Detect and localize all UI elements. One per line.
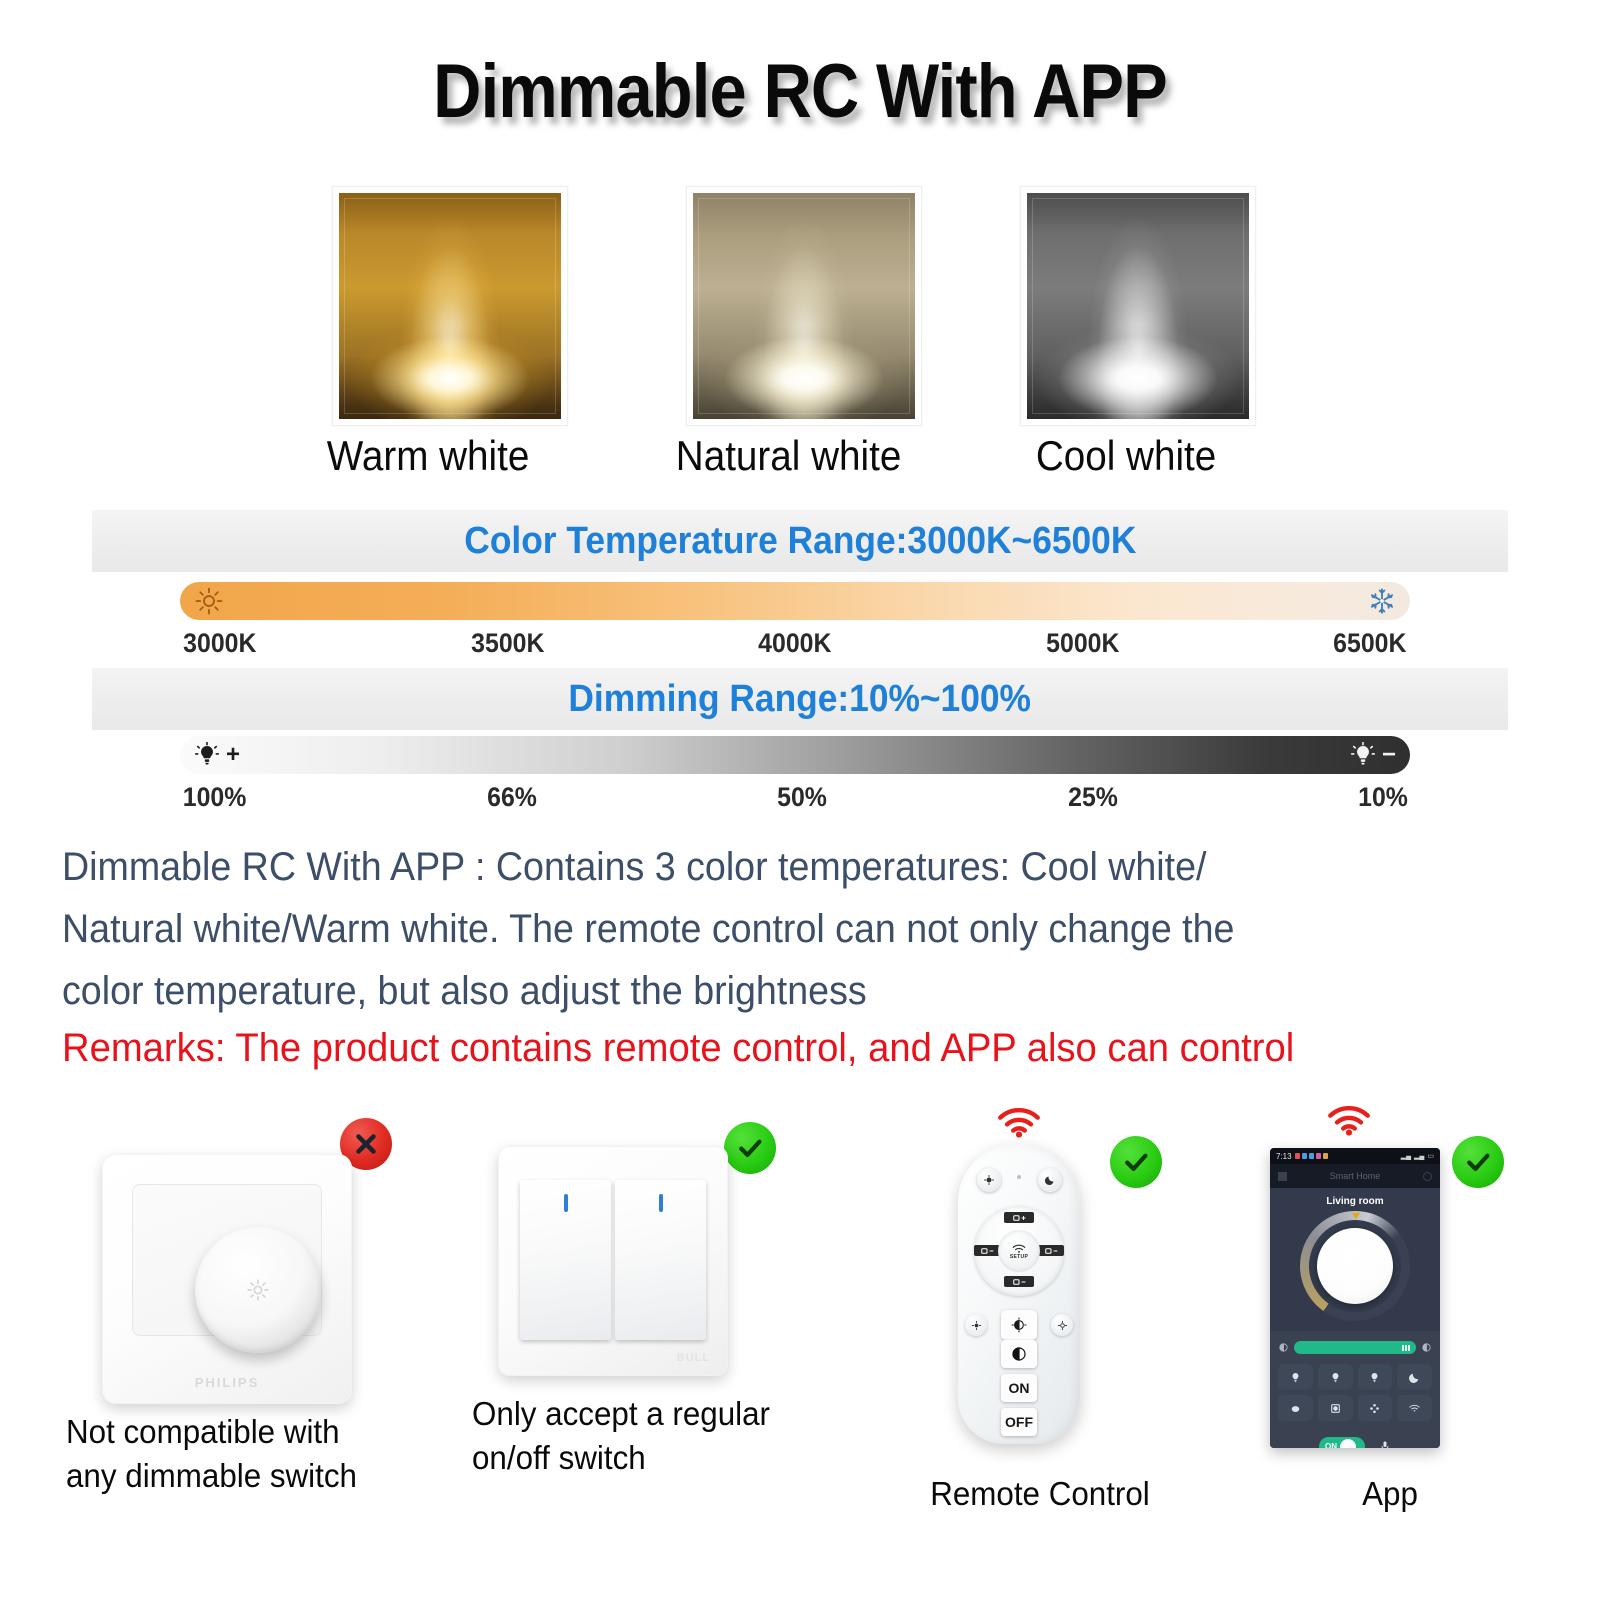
wifi-signal-icon (992, 1104, 1046, 1143)
brightness-slider[interactable] (1294, 1341, 1416, 1354)
panel-caption-dimmer: Not compatible with any dimmable switch (66, 1410, 408, 1498)
bulb-plus-icon: + (194, 742, 240, 768)
remote-left-chip[interactable] (974, 1245, 1000, 1256)
app-controls (1270, 1331, 1440, 1429)
half-circle-icon (1010, 1345, 1028, 1363)
swatch-cool-white (1020, 186, 1256, 426)
rf-remote-control[interactable]: SETUP (958, 1144, 1080, 1444)
remarks-text: Remarks: The product contains remote con… (62, 1026, 1485, 1071)
status-time: 7:13 (1276, 1152, 1292, 1161)
brightness-low-icon (1278, 1342, 1289, 1353)
swatch-natural-white (686, 186, 922, 426)
ct-tick-1: 3500K (471, 628, 544, 659)
cool-light-beam-icon (1027, 193, 1249, 419)
wifi-signal-icon (1322, 1102, 1376, 1141)
color-temperature-gradient-bar[interactable] (180, 582, 1410, 620)
snowflake-icon (1368, 587, 1396, 615)
brightness-icon (245, 1277, 271, 1303)
swatch-inner-frame (698, 198, 910, 414)
app-room-name: Living room (1270, 1196, 1440, 1207)
app-top-bar: Smart Home (1270, 1164, 1440, 1188)
brightness-dial[interactable] (1300, 1211, 1410, 1321)
panel-caption-app: App (1238, 1472, 1542, 1516)
remote-top-buttons (958, 1168, 1080, 1192)
description-paragraph: Dimmable RC With APP : Contains 3 color … (62, 836, 1532, 1022)
swatch-warm-white (332, 186, 568, 426)
dim-tick-3: 25% (1068, 782, 1118, 813)
microphone-icon[interactable] (1379, 1439, 1391, 1448)
swatch-inner-frame (344, 198, 556, 414)
scene-bulb-1-button[interactable] (1278, 1364, 1313, 1390)
color-temperature-banner-text: Color Temperature Range:3000K~6500K (464, 520, 1136, 563)
ct-tick-2: 4000K (758, 628, 831, 659)
panel-caption-remote: Remote Control (888, 1472, 1192, 1516)
remote-warm-button[interactable] (965, 1314, 987, 1336)
warm-light-beam-icon (339, 193, 561, 419)
remote-brightness-button[interactable] (977, 1168, 1001, 1192)
page-title: Dimmable RC With APP (96, 48, 1504, 135)
description-line-3: color temperature, but also adjust the b… (62, 960, 1444, 1022)
ct-tick-4: 6500K (1334, 628, 1407, 659)
dim-tick-4: 10% (1358, 782, 1408, 813)
smartphone-app[interactable]: 7:13 ▂▄▂▄▭ Smart Home (1270, 1148, 1440, 1448)
dial-marker-icon (1352, 1213, 1360, 1219)
power-toggle-label: ON (1325, 1442, 1337, 1448)
remote-dpad[interactable]: SETUP (974, 1206, 1064, 1296)
status-signal-icons: ▂▄▂▄▭ (1401, 1152, 1434, 1160)
dimmer-knob[interactable] (195, 1227, 321, 1353)
dimming-gradient-bar[interactable]: + − (180, 736, 1410, 774)
check-badge (1110, 1136, 1162, 1188)
app-bottom-bar: ON (1270, 1429, 1440, 1448)
remote-ct-toggle-button[interactable] (1001, 1310, 1037, 1340)
app-title: Smart Home (1330, 1171, 1381, 1181)
remote-setup-button[interactable]: SETUP (998, 1230, 1040, 1272)
remarks-note: Remarks: The product contains remote con… (62, 1026, 1552, 1071)
remote-mid-row (958, 1310, 1080, 1340)
infographic-page: Dimmable RC With APP Warm white Natural … (0, 0, 1600, 1600)
scene-night-mode-button[interactable] (1397, 1364, 1432, 1390)
philips-rotary-dimmer[interactable]: PHILIPS (102, 1154, 352, 1404)
status-notification-icons (1295, 1153, 1328, 1159)
swatch-label-natural-white: Natural white (676, 432, 902, 480)
dim-tick-0: 100% (183, 782, 247, 813)
panel-caption-rocker: Only accept a regular on/off switch (472, 1392, 814, 1480)
rocker-key-left[interactable] (520, 1180, 611, 1340)
scene-group-button[interactable] (1358, 1395, 1393, 1421)
dim-tick-1: 66% (487, 782, 537, 813)
scene-bulb-2-button[interactable] (1318, 1364, 1353, 1390)
app-status-bar: 7:13 ▂▄▂▄▭ (1270, 1148, 1440, 1164)
remote-night-mode-button[interactable] (1038, 1168, 1062, 1192)
scene-cloud-button[interactable] (1278, 1395, 1313, 1421)
wifi-icon (1011, 1243, 1027, 1254)
check-badge (724, 1122, 776, 1174)
brightness-high-icon (1421, 1342, 1432, 1353)
scene-timer-button[interactable] (1318, 1395, 1353, 1421)
dimming-plus-sign: + (226, 743, 240, 767)
remote-off-button[interactable]: OFF (1001, 1408, 1037, 1436)
menu-icon[interactable] (1278, 1172, 1287, 1181)
compatibility-panels: PHILIPS Not compatible with any dimmable… (0, 1100, 1600, 1600)
swatch-label-cool-white: Cool white (1036, 432, 1216, 480)
remote-button-column: ON OFF (1001, 1340, 1037, 1436)
natural-light-beam-icon (693, 193, 915, 419)
remote-up-chip[interactable] (1004, 1212, 1034, 1223)
rocker-key-right[interactable] (615, 1180, 706, 1340)
remote-right-chip[interactable] (1038, 1245, 1064, 1256)
remote-ir-led (1017, 1175, 1021, 1179)
sun-icon (194, 586, 224, 616)
dim-tick-2: 50% (778, 782, 828, 813)
color-temperature-swatches: Warm white Natural white Cool white (0, 186, 1600, 476)
swatch-label-warm-white: Warm white (327, 432, 530, 480)
remote-on-button[interactable]: ON (1001, 1374, 1037, 1402)
dimming-ticks: 100% 66% 50% 25% 10% (180, 782, 1410, 813)
power-toggle-knob (1340, 1439, 1356, 1449)
dimming-minus-sign: − (1382, 743, 1396, 767)
swatch-inner-frame (1032, 198, 1244, 414)
dimming-banner-text: Dimming Range:10%~100% (569, 678, 1032, 721)
remote-down-chip[interactable] (1004, 1276, 1034, 1287)
dimming-banner: Dimming Range:10%~100% (92, 668, 1508, 730)
switch-brand-label: BULL (677, 1352, 710, 1364)
color-temperature-ticks: 3000K 3500K 4000K 5000K 6500K (180, 628, 1410, 659)
rocker-keys (520, 1180, 706, 1340)
ct-tick-0: 3000K (183, 628, 256, 659)
scene-bulb-3-button[interactable] (1358, 1364, 1393, 1390)
app-hero-section: Living room (1270, 1188, 1440, 1331)
scene-wifi-button[interactable] (1397, 1395, 1432, 1421)
description-line-1: Dimmable RC With APP : Contains 3 color … (62, 836, 1444, 898)
remote-contrast-button[interactable] (1001, 1340, 1037, 1368)
color-temperature-banner: Color Temperature Range:3000K~6500K (92, 510, 1508, 572)
dimmer-recess (132, 1184, 322, 1336)
check-badge (1452, 1136, 1504, 1188)
two-gang-rocker-switch[interactable]: BULL (498, 1146, 728, 1376)
remote-cool-button[interactable] (1051, 1314, 1073, 1336)
search-icon[interactable] (1423, 1172, 1432, 1181)
app-scene-grid (1278, 1364, 1432, 1421)
remote-setup-label: SETUP (1010, 1254, 1028, 1260)
description-line-2: Natural white/Warm white. The remote con… (62, 898, 1444, 960)
power-toggle[interactable]: ON (1319, 1437, 1365, 1448)
philips-brand-label: PHILIPS (102, 1375, 352, 1390)
ct-tick-3: 5000K (1046, 628, 1119, 659)
bulb-minus-icon: − (1350, 742, 1396, 768)
brightness-slider-row (1278, 1341, 1432, 1354)
dial-knob[interactable] (1317, 1228, 1393, 1304)
